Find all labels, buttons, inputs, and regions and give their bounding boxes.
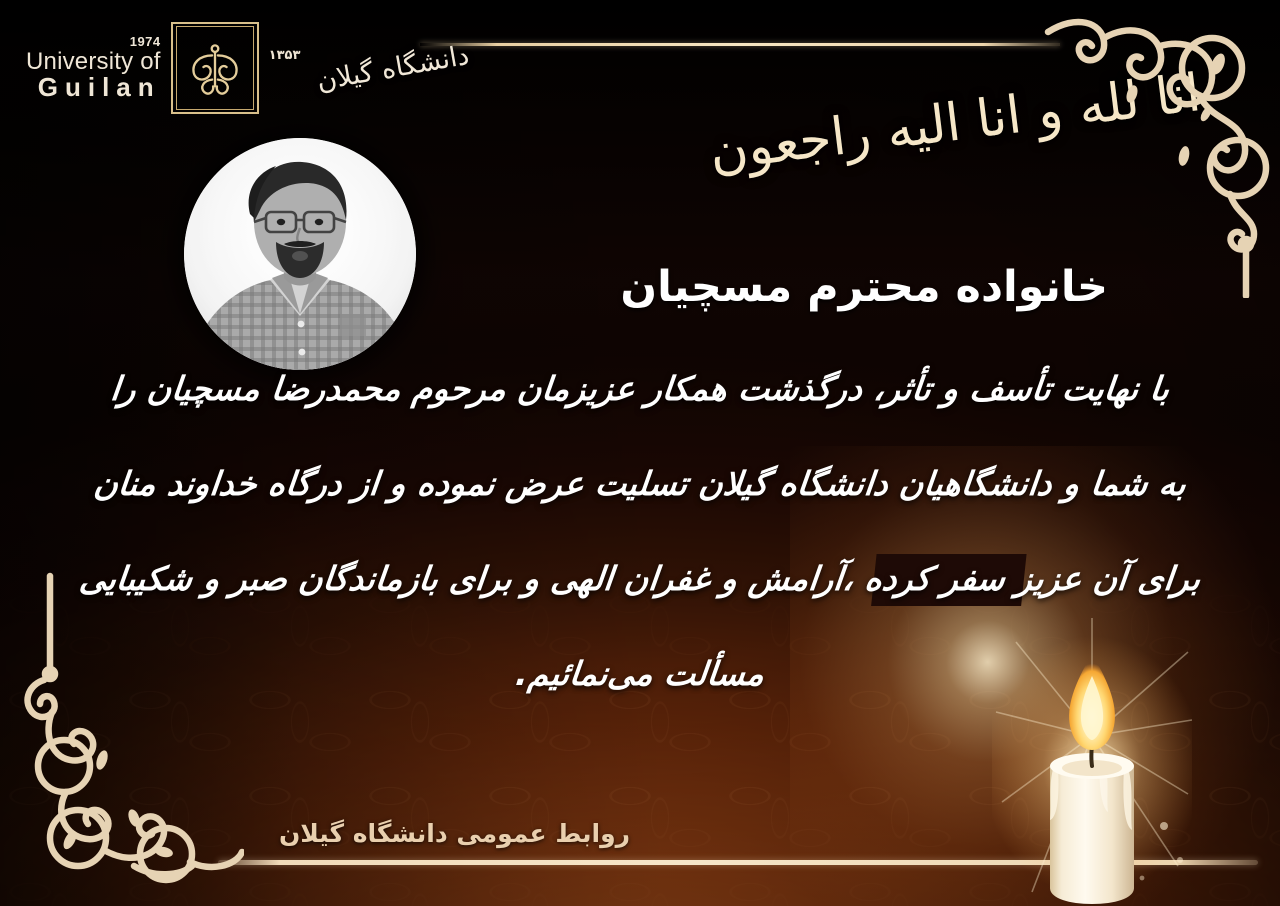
lit-candle-icon	[992, 616, 1192, 906]
message-line-text: برای آن عزیز سفر کرده ،آرامش و غفران اله…	[77, 559, 1202, 598]
deceased-portrait	[184, 138, 416, 370]
corner-flourish-ornament-top-right	[1042, 8, 1272, 298]
logo-english-text: 1974 University of Guilan	[26, 35, 161, 100]
message-line: برای آن عزیز سفر کرده ،آرامش و غفران اله…	[34, 562, 1245, 595]
university-logo: 1974 University of Guilan ۱۳۵۳	[26, 22, 470, 114]
footer-signature: روابط عمومی دانشگاه گیلان	[279, 819, 630, 848]
message-line: به شما و دانشگاهیان دانشگاه گیلان تسلیت …	[34, 467, 1245, 500]
logo-persian-name: دانشگاه گیلان	[315, 39, 472, 96]
logo-year-solar: ۱۳۵۳	[269, 48, 301, 63]
logo-line-university-of: University of	[26, 50, 161, 74]
condolence-banner: 1974 University of Guilan ۱۳۵۳	[0, 0, 1280, 906]
logo-line-guilan: Guilan	[26, 74, 161, 101]
logo-year-gregorian: 1974	[26, 35, 161, 48]
top-gold-rule	[420, 43, 1060, 46]
page-title: خانواده محترم مسچیان	[620, 262, 1108, 312]
guilan-university-emblem-icon	[171, 22, 259, 114]
message-line: با نهایت تأسف و تأثر، درگذشت همکار عزیزم…	[34, 372, 1245, 405]
